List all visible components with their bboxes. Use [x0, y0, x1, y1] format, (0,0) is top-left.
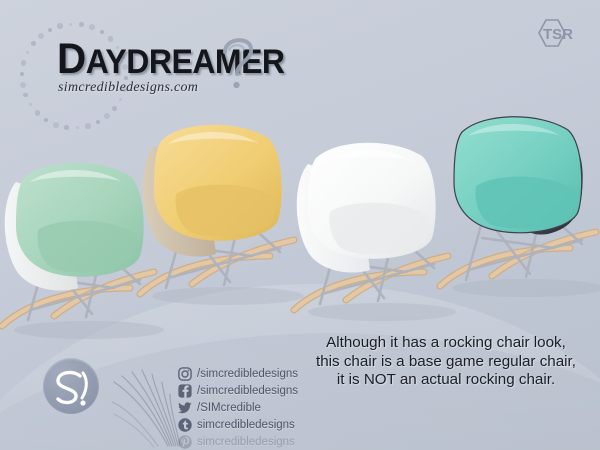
simcredible-s-logo-icon: [43, 358, 99, 414]
social-link-facebook[interactable]: /simcredibledesigns: [178, 383, 298, 399]
tsr-badge: TSR: [528, 18, 586, 48]
disclaimer-line-2: this chair is a base game regular chair,: [296, 353, 596, 372]
ring-dot: [69, 23, 72, 26]
ring-dot: [38, 33, 44, 39]
social-link-label: simcredibledesigns: [197, 419, 295, 431]
ring-dot: [21, 60, 26, 65]
ring-dot: [64, 125, 69, 130]
social-link-pinterest[interactable]: simcredibledesigns: [178, 434, 298, 450]
poster-canvas: DAYDREAMER simcredibledesigns.com TSR: [0, 0, 600, 450]
social-link-label: simcredibledesigns: [197, 436, 295, 448]
ring-dot: [96, 120, 100, 124]
ring-dot: [29, 103, 32, 106]
disclaimer-text: Although it has a rocking chair look, th…: [296, 334, 596, 390]
question-mark-flourish-icon: [219, 30, 265, 92]
ring-dot: [20, 72, 24, 76]
social-link-tumblr[interactable]: simcredibledesigns: [178, 417, 298, 433]
pinterest-icon: [178, 435, 192, 449]
social-link-label: /SIMcredible: [197, 402, 261, 414]
chair-seat-pan: [330, 203, 429, 255]
ring-dot: [31, 41, 36, 46]
tsr-label: TSR: [543, 26, 573, 43]
page-title-initial: D: [57, 35, 86, 83]
creator-logo-badge[interactable]: [43, 358, 99, 414]
tumblr-icon: [178, 418, 192, 432]
ring-dot: [76, 126, 79, 129]
ring-dot: [26, 51, 29, 54]
ring-dot: [119, 98, 122, 101]
ring-dot: [53, 122, 59, 128]
product-chair-yellow[interactable]: [128, 98, 308, 308]
social-link-label: /simcredibledesigns: [197, 385, 298, 397]
disclaimer-line-3: it is NOT an actual rocking chair.: [296, 371, 596, 390]
ring-dot: [57, 23, 62, 28]
ring-dot: [104, 113, 110, 119]
ring-dot: [89, 24, 95, 30]
chair-seat-pan: [176, 185, 275, 237]
social-links-list: /simcredibledesigns /simcredibledesigns …: [178, 366, 298, 450]
facebook-icon: [178, 384, 192, 398]
product-chair-teal[interactable]: [428, 88, 600, 300]
ring-dot: [23, 93, 28, 98]
ring-dot: [48, 28, 52, 32]
instagram-icon: [178, 367, 192, 381]
ring-dot: [35, 110, 40, 115]
social-link-twitter[interactable]: /SIMcredible: [178, 400, 298, 416]
twitter-icon: [178, 401, 192, 415]
brand-website: simcredibledesigns.com: [58, 80, 198, 96]
chair-seat-pan: [38, 221, 137, 273]
chair-seat-pan: [476, 177, 575, 229]
ring-dot: [79, 22, 84, 27]
ring-dot: [112, 106, 117, 111]
ring-dot: [85, 123, 90, 128]
social-link-instagram[interactable]: /simcredibledesigns: [178, 366, 298, 382]
ring-dot: [20, 82, 26, 88]
social-link-label: /simcredibledesigns: [197, 368, 298, 380]
ring-dot: [44, 118, 48, 122]
ring-dot: [100, 30, 104, 34]
disclaimer-line-1: Although it has a rocking chair look,: [296, 334, 596, 353]
